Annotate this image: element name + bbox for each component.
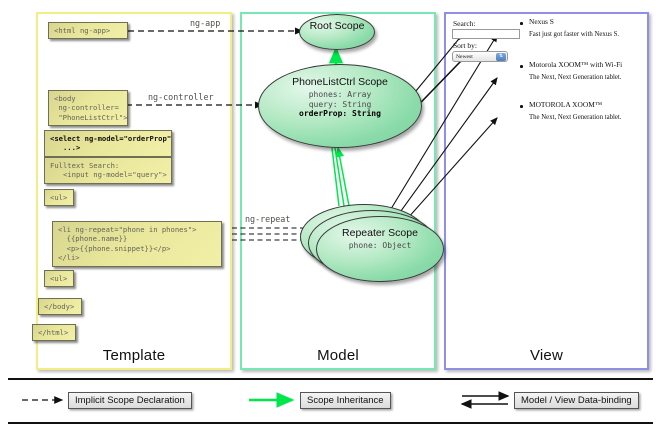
legend-item-model-view-data-binding: Model / View Data-binding bbox=[514, 392, 639, 409]
diagram-canvas: Template Model View bbox=[0, 0, 661, 425]
legend-item-scope-inheritance: Scope Inheritance bbox=[300, 392, 391, 409]
legend-icon-layer bbox=[0, 0, 661, 425]
legend-item-implicit-scope-declaration: Implicit Scope Declaration bbox=[68, 392, 192, 409]
